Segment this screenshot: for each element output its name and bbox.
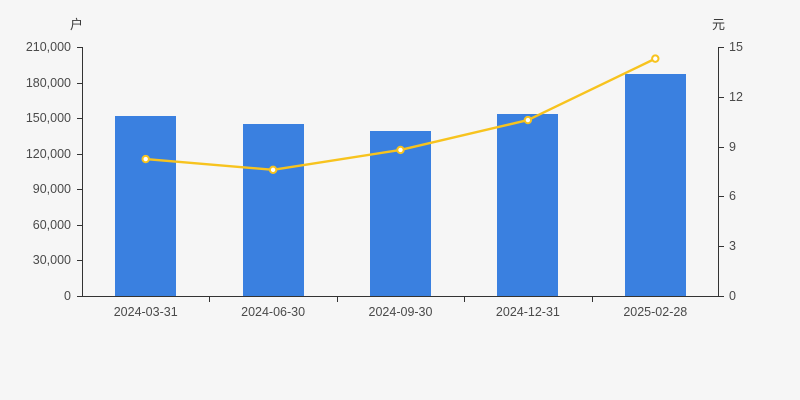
right-axis-unit-label: 元 <box>712 14 725 33</box>
x-tick-mark <box>464 297 465 302</box>
bar-2024-12-31[interactable] <box>497 114 558 296</box>
x-tick-label: 2024-03-31 <box>114 305 178 319</box>
bar-2025-02-28[interactable] <box>625 74 686 296</box>
right-tick-mark <box>719 196 724 197</box>
right-tick-label: 6 <box>729 189 736 203</box>
x-axis-line <box>82 296 719 297</box>
right-tick-mark <box>719 97 724 98</box>
left-tick-label: 30,000 <box>0 253 71 267</box>
x-tick-mark <box>337 297 338 302</box>
right-tick-mark <box>719 296 724 297</box>
left-tick-label: 0 <box>0 289 71 303</box>
right-tick-label: 3 <box>729 239 736 253</box>
right-tick-label: 0 <box>729 289 736 303</box>
left-axis-unit-label: 户 <box>70 14 83 33</box>
left-tick-label: 210,000 <box>0 40 71 54</box>
bar-2024-09-30[interactable] <box>370 131 431 296</box>
left-tick-mark <box>77 118 82 119</box>
right-tick-label: 9 <box>729 140 736 154</box>
left-tick-label: 180,000 <box>0 76 71 90</box>
right-tick-mark <box>719 246 724 247</box>
chart-container: 户 元 030,00060,00090,000120,000150,000180… <box>0 0 800 400</box>
right-tick-mark <box>719 147 724 148</box>
left-axis-line <box>82 47 83 297</box>
right-axis-line <box>718 47 719 297</box>
left-tick-label: 60,000 <box>0 218 71 232</box>
left-tick-mark <box>77 260 82 261</box>
x-tick-label: 2024-09-30 <box>369 305 433 319</box>
left-tick-label: 90,000 <box>0 182 71 196</box>
left-tick-label: 120,000 <box>0 147 71 161</box>
left-tick-mark <box>77 296 82 297</box>
bar-2024-06-30[interactable] <box>243 124 304 296</box>
x-tick-mark <box>209 297 210 302</box>
left-tick-mark <box>77 189 82 190</box>
bar-2024-03-31[interactable] <box>115 116 176 296</box>
right-tick-label: 15 <box>729 40 743 54</box>
x-tick-mark <box>592 297 593 302</box>
left-tick-mark <box>77 154 82 155</box>
left-tick-mark <box>77 83 82 84</box>
left-tick-mark <box>77 47 82 48</box>
left-tick-mark <box>77 225 82 226</box>
left-tick-label: 150,000 <box>0 111 71 125</box>
x-tick-label: 2025-02-28 <box>623 305 687 319</box>
right-tick-mark <box>719 47 724 48</box>
right-tick-label: 12 <box>729 90 743 104</box>
line-marker-2025-02-28[interactable] <box>652 55 658 61</box>
x-tick-label: 2024-06-30 <box>241 305 305 319</box>
x-tick-label: 2024-12-31 <box>496 305 560 319</box>
